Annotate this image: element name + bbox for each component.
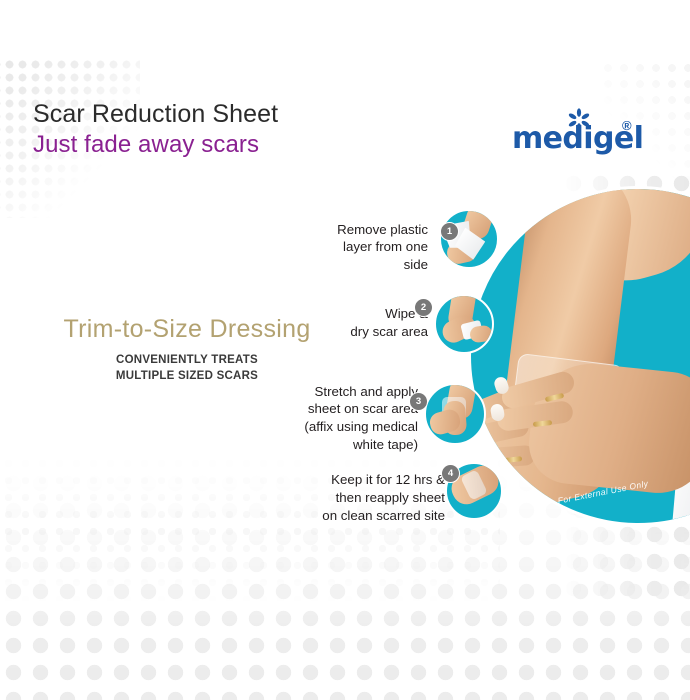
step-3-badge: 3 — [409, 392, 428, 411]
hero-image-clip: For External Use Only — [471, 189, 690, 526]
feature-subtitle-line-1: CONVENIENTLY TREATS — [47, 352, 327, 369]
step-2-badge: 2 — [414, 298, 433, 317]
feature-block: Trim-to-Size Dressing CONVENIENTLY TREAT… — [47, 316, 327, 385]
registered-trademark-symbol: ® — [622, 118, 632, 133]
hero-product-image: For External Use Only — [468, 186, 690, 526]
step-1-text: Remove plastic layer from one side — [318, 221, 428, 274]
step-2-image — [434, 294, 494, 354]
brand-logo: medigel ® — [512, 108, 642, 160]
step-4-text: Keep it for 12 hrs & then reapply sheet … — [322, 471, 445, 524]
step-1-text-wrap: Remove plastic layer from one side — [318, 224, 428, 270]
step-3-text-wrap: Stretch and apply sheet on scar area (af… — [287, 382, 418, 454]
product-title: Scar Reduction Sheet — [33, 100, 278, 130]
feature-subtitle-line-2: MULTIPLE SIZED SCARS — [47, 368, 327, 385]
step-4-text-wrap: Keep it for 12 hrs & then reapply sheet … — [310, 470, 445, 526]
step-3-text: Stretch and apply sheet on scar area (af… — [304, 383, 418, 454]
product-tagline: Just fade away scars — [33, 131, 278, 160]
advertisement-canvas: Scar Reduction Sheet Just fade away scar… — [0, 0, 690, 700]
headline-block: Scar Reduction Sheet Just fade away scar… — [33, 100, 278, 159]
feature-title: Trim-to-Size Dressing — [47, 316, 327, 344]
step-1-badge: 1 — [440, 222, 459, 241]
step-3-image — [424, 383, 486, 445]
step-4-badge: 4 — [441, 464, 460, 483]
feature-subtitle: CONVENIENTLY TREATS MULTIPLE SIZED SCARS — [47, 352, 327, 385]
